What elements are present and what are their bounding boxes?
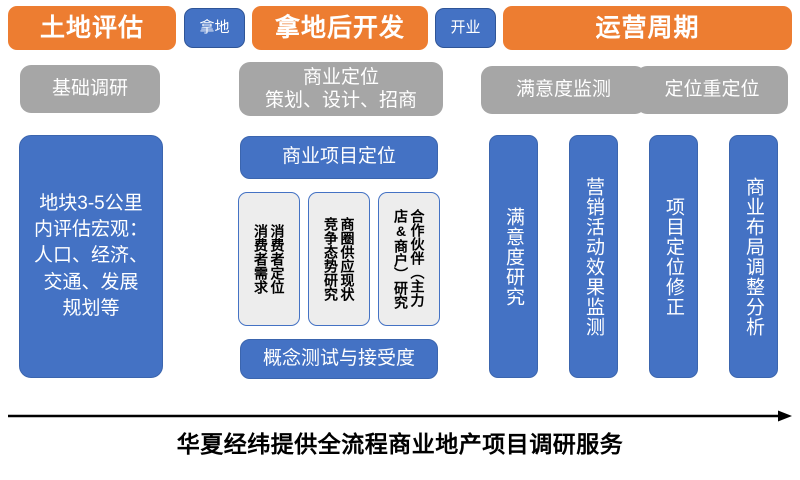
header-line-1: 商业定位 <box>303 66 379 89</box>
phase-label: 开业 <box>450 20 480 36</box>
block-commercial-project-positioning[interactable]: 商业项目定位 <box>240 136 438 179</box>
subbox-label: 合作伙伴（主力 店&商户）研究 <box>392 209 425 309</box>
block-label: 地块3-5公里 内评估宏观： 人口、经济、 交通、发展 规划等 <box>26 191 156 322</box>
block-project-positioning-correction[interactable]: 项目定位修正 <box>649 135 698 378</box>
phase-label: 运营周期 <box>595 15 699 41</box>
phase-land-evaluation[interactable]: 土地评估 <box>8 6 176 50</box>
block-satisfaction-study[interactable]: 满意度研究 <box>489 135 538 378</box>
block-concept-test-acceptance[interactable]: 概念测试与接受度 <box>240 339 438 379</box>
timeline-arrow-icon <box>8 410 792 422</box>
subbox-label: 消费者定位 消费者需求 <box>252 224 285 294</box>
phase-label: 土地评估 <box>40 15 144 41</box>
block-marketing-activity-effect-monitoring[interactable]: 营销活动效果监测 <box>569 135 618 378</box>
phase-operation-cycle[interactable]: 运营周期 <box>503 6 792 50</box>
header-satisfaction-monitoring[interactable]: 满意度监测 <box>481 66 646 114</box>
block-commercial-layout-adjustment-analysis[interactable]: 商业布局调整分析 <box>729 135 778 378</box>
header-repositioning[interactable]: 定位重定位 <box>636 66 788 114</box>
header-line-2: 策划、设计、招商 <box>265 89 417 112</box>
block-label: 满意度研究 <box>501 207 526 307</box>
subbox-consumer-positioning-demand[interactable]: 消费者定位 消费者需求 <box>238 192 300 326</box>
phase-label: 拿地 <box>199 20 229 36</box>
header-basic-research[interactable]: 基础调研 <box>20 65 160 113</box>
subbox-partner-anchor-tenant-research[interactable]: 合作伙伴（主力 店&商户）研究 <box>378 192 440 326</box>
block-label: 商业项目定位 <box>282 146 396 169</box>
block-macro-evaluation[interactable]: 地块3-5公里 内评估宏观： 人口、经济、 交通、发展 规划等 <box>19 135 163 378</box>
block-label: 营销活动效果监测 <box>581 177 606 337</box>
block-label: 项目定位修正 <box>661 197 686 317</box>
phase-opening[interactable]: 开业 <box>435 8 496 48</box>
header-line-1: 满意度监测 <box>516 78 611 101</box>
header-line-1: 定位重定位 <box>664 78 759 101</box>
block-label: 商业布局调整分析 <box>741 177 766 337</box>
diagram-canvas: 土地评估 拿地 拿地后开发 开业 运营周期 基础调研 商业定位 策划、设计、招商… <box>0 0 800 480</box>
header-commercial-positioning[interactable]: 商业定位 策划、设计、招商 <box>239 62 443 116</box>
header-line-1: 基础调研 <box>52 77 128 100</box>
subbox-label: 商圈供应现状 竞争态势研究 <box>322 217 355 301</box>
phase-land-acquisition[interactable]: 拿地 <box>184 8 245 48</box>
subbox-trade-area-supply-competition[interactable]: 商圈供应现状 竞争态势研究 <box>308 192 370 326</box>
block-label: 概念测试与接受度 <box>263 348 415 371</box>
diagram-caption: 华夏经纬提供全流程商业地产项目调研服务 <box>0 425 800 459</box>
phase-label: 拿地后开发 <box>275 15 405 41</box>
phase-post-acquisition-development[interactable]: 拿地后开发 <box>252 6 428 50</box>
